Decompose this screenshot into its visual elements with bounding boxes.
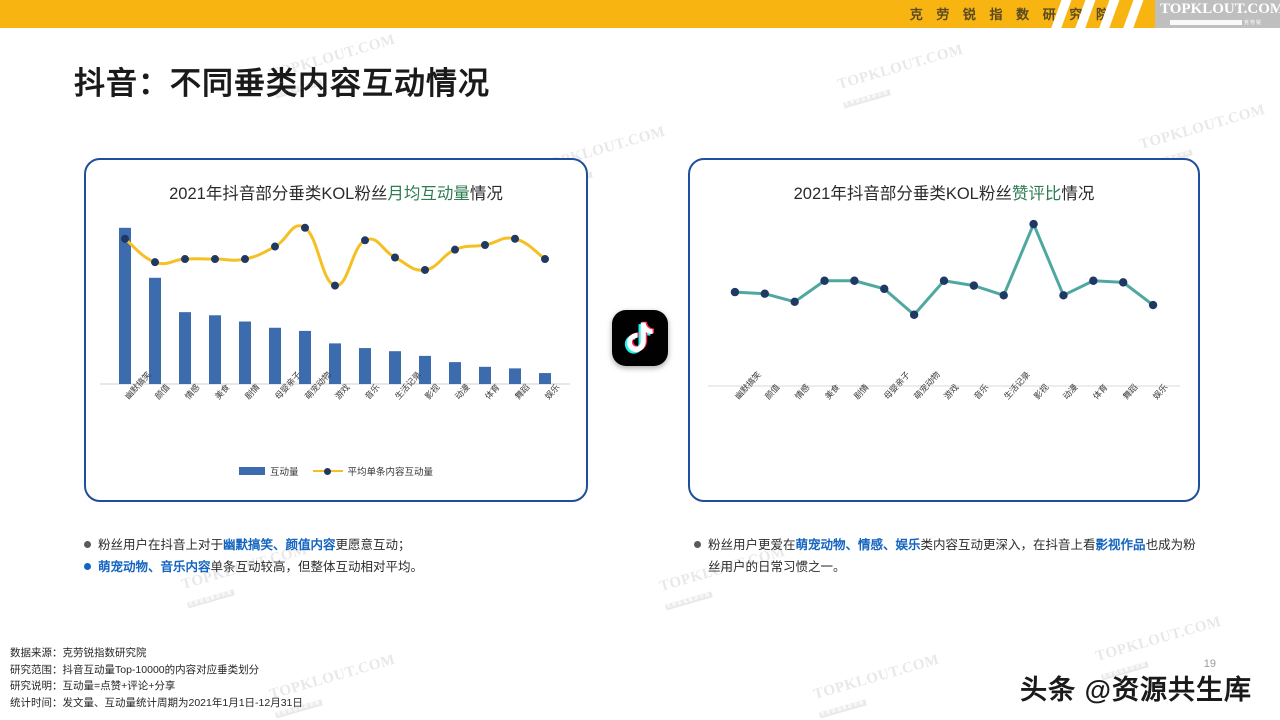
legend-swatch (313, 467, 343, 475)
footnote-line: 研究范围：抖音互动量Top-10000的内容对应垂类划分 (10, 662, 303, 679)
footnote-line: 研究说明：互动量=点赞+评论+分享 (10, 678, 303, 695)
chart-panel-like-comment-ratio: 2021年抖音部分垂类KOL粉丝赞评比情况 幽默搞笑颜值情感美食剧情母婴亲子萌宠… (688, 158, 1200, 502)
bottom-brand-text: 头条 @资源共生库 (1020, 668, 1252, 707)
insight-highlight: 影视作品 (1096, 538, 1146, 552)
chart-title-right: 2021年抖音部分垂类KOL粉丝赞评比情况 (690, 180, 1198, 204)
chart-title-left-post: 情况 (470, 185, 503, 203)
insight-row: 粉丝用户在抖音上对于幽默搞笑、颜值内容更愿意互动； (84, 534, 604, 556)
chart-legend-left: 互动量平均单条内容互动量 (86, 464, 586, 478)
insight-plain: 粉丝用户在抖音上对于 (98, 538, 223, 552)
chart-title-left-pre: 2021年抖音部分垂类KOL粉丝 (169, 185, 387, 203)
insight-row: 粉丝用户更爱在萌宠动物、情感、娱乐类内容互动更深入，在抖音上看影视作品也成为粉丝… (694, 534, 1204, 578)
chart-title-right-pre: 2021年抖音部分垂类KOL粉丝 (794, 185, 1012, 203)
slide-root: 克 劳 锐 指 数 研 究 院 TOPKLOUT.COM 克劳锐 抖音：不同垂类… (0, 0, 1280, 720)
watermark: TOPKLOUT.COM克劳锐指数研究院 (812, 651, 947, 720)
insight-row: 萌宠动物、音乐内容单条互动较高，但整体互动相对平均。 (84, 556, 604, 578)
insight-text: 粉丝用户更爱在萌宠动物、情感、娱乐类内容互动更深入，在抖音上看影视作品也成为粉丝… (708, 534, 1204, 578)
insight-list-left: 粉丝用户在抖音上对于幽默搞笑、颜值内容更愿意互动；萌宠动物、音乐内容单条互动较高… (84, 534, 604, 578)
legend-item-bar-series: 互动量 (239, 464, 299, 478)
insight-text: 粉丝用户在抖音上对于幽默搞笑、颜值内容更愿意互动； (98, 534, 604, 556)
footnotes: 数据来源：克劳锐指数研究院研究范围：抖音互动量Top-10000的内容对应垂类划… (10, 645, 303, 711)
logo-subbar: 克劳锐 (1160, 19, 1272, 26)
insight-plain: 单条互动较高，但整体互动相对平均。 (211, 560, 424, 574)
bullet-dot-icon (694, 541, 701, 548)
header-stripe (1120, 0, 1145, 36)
chart-title-right-highlight: 赞评比 (1012, 185, 1062, 203)
x-axis-labels-left: 幽默搞笑颜值情感美食剧情母婴亲子萌宠动物游戏音乐生活记录影视动漫体育舞蹈娱乐 (100, 394, 570, 454)
logo-cn-text: 克劳锐 (1244, 19, 1262, 26)
insight-plain: 粉丝用户更爱在 (708, 538, 796, 552)
topklout-logo: TOPKLOUT.COM 克劳锐 (1160, 2, 1272, 26)
insight-plain: 更愿意互动； (336, 538, 411, 552)
chart-panel-monthly-interaction: 2021年抖音部分垂类KOL粉丝月均互动量情况 幽默搞笑颜值情感美食剧情母婴亲子… (84, 158, 588, 502)
footnote-line: 数据来源：克劳锐指数研究院 (10, 645, 303, 662)
chart-title-right-post: 情况 (1061, 185, 1094, 203)
chart-title-left: 2021年抖音部分垂类KOL粉丝月均互动量情况 (86, 180, 586, 204)
bullet-dot-icon (84, 563, 91, 570)
plot-area-left (100, 212, 570, 390)
bullet-dot-icon (84, 541, 91, 548)
header-logo-panel: TOPKLOUT.COM 克劳锐 (1155, 0, 1280, 28)
logo-text: TOPKLOUT.COM (1160, 2, 1272, 17)
insight-text: 萌宠动物、音乐内容单条互动较高，但整体互动相对平均。 (98, 556, 604, 578)
legend-swatch (239, 467, 265, 475)
chart-title-left-highlight: 月均互动量 (387, 185, 470, 203)
page-title: 抖音：不同垂类内容互动情况 (74, 58, 490, 103)
tiktok-icon (612, 310, 668, 366)
legend-label: 平均单条内容互动量 (348, 464, 434, 478)
insight-list-right: 粉丝用户更爱在萌宠动物、情感、娱乐类内容互动更深入，在抖音上看影视作品也成为粉丝… (694, 534, 1204, 578)
watermark: TOPKLOUT.COM克劳锐指数研究院 (836, 41, 971, 111)
insight-plain: 类内容互动更深入，在抖音上看 (921, 538, 1096, 552)
insight-highlight: 萌宠动物、音乐内容 (98, 560, 211, 574)
insight-highlight: 萌宠动物、情感、娱乐 (796, 538, 921, 552)
legend-label: 互动量 (270, 464, 299, 478)
logo-bar-shape (1170, 20, 1242, 25)
header-bar: 克 劳 锐 指 数 研 究 院 TOPKLOUT.COM 克劳锐 (0, 0, 1280, 28)
footnote-line: 统计时间：发文量、互动量统计周期为2021年1月1日-12月31日 (10, 695, 303, 712)
legend-item-line-series: 平均单条内容互动量 (313, 464, 434, 478)
insight-highlight: 幽默搞笑、颜值内容 (223, 538, 336, 552)
plot-area-right (708, 208, 1180, 390)
x-axis-labels-right: 幽默搞笑颜值情感美食剧情母婴亲子萌宠动物游戏音乐生活记录影视动漫体育舞蹈娱乐 (708, 394, 1180, 454)
